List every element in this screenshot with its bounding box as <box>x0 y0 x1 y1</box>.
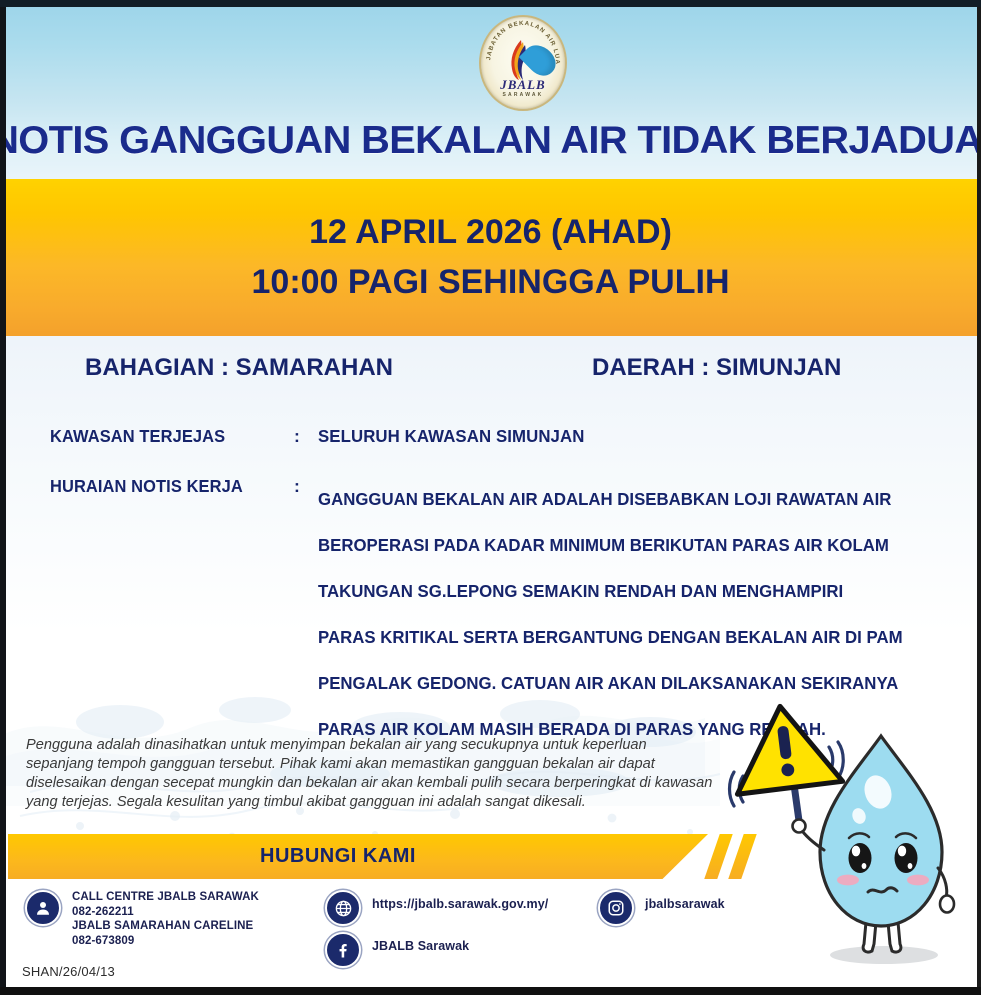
logo-name-text: JBALB <box>481 77 565 93</box>
jbalb-logo: JABATAN BEKALAN AIR LUAR BANDAR JBALB SA… <box>471 13 571 109</box>
outage-date-band: 12 APRIL 2026 (AHAD) 10:00 PAGI SEHINGGA… <box>0 179 981 336</box>
water-supply-disruption-notice-poster: JABATAN BEKALAN AIR LUAR BANDAR JBALB SA… <box>0 0 981 995</box>
mascot-right-hand <box>940 896 954 913</box>
outage-time: 10:00 PAGI SEHINGGA PULIH <box>252 258 730 307</box>
call-centre-name: CALL CENTRE JBALB SARAWAK <box>72 890 259 905</box>
outage-date: 12 APRIL 2026 (AHAD) <box>309 208 672 257</box>
website-text: https://jbalb.sarawak.gov.my/ <box>372 890 548 912</box>
instagram-handle: jbalbsarawak <box>645 890 725 912</box>
poster-header: JABATAN BEKALAN AIR LUAR BANDAR JBALB SA… <box>0 7 981 179</box>
call-centre-contact[interactable]: CALL CENTRE JBALB SARAWAK 082-262211 JBA… <box>25 890 259 948</box>
careline-phone: 082-673809 <box>72 934 259 949</box>
affected-area-colon: : <box>294 426 300 447</box>
poster-right-border <box>977 0 981 995</box>
affected-area-row: KAWASAN TERJEJAS : SELURUH KAWASAN SIMUN… <box>50 426 236 447</box>
careline-name: JBALB SAMARAHAN CARELINE <box>72 919 259 934</box>
logo-oval-crest: JABATAN BEKALAN AIR LUAR BANDAR JBALB SA… <box>479 15 567 111</box>
call-centre-text: CALL CENTRE JBALB SARAWAK 082-262211 JBA… <box>72 890 259 948</box>
work-description-colon: : <box>294 476 300 497</box>
instagram-icon <box>598 890 634 926</box>
poster-left-border <box>0 0 6 995</box>
website-contact[interactable]: https://jbalb.sarawak.gov.my/ <box>325 890 548 926</box>
contact-us-label: HUBUNGI KAMI <box>8 834 668 879</box>
disclaimer-text: Pengguna adalah dinasihatkan untuk menyi… <box>26 736 714 812</box>
facebook-page-name: JBALB Sarawak <box>372 932 469 954</box>
instagram-contact[interactable]: jbalbsarawak <box>598 890 725 926</box>
district-label: DAERAH : SIMUNJAN <box>592 354 841 382</box>
page-title: NOTIS GANGGUAN BEKALAN AIR TIDAK BERJADU… <box>0 119 981 163</box>
poster-top-border <box>0 0 981 7</box>
division-label: BAHAGIAN : SAMARAHAN <box>85 354 393 382</box>
work-description-line: BEROPERASI PADA KADAR MINIMUM BERIKUTAN … <box>318 522 952 568</box>
call-centre-phone: 082-262211 <box>72 905 259 920</box>
facebook-contact[interactable]: JBALB Sarawak <box>325 932 469 968</box>
work-description-line: PARAS KRITIKAL SERTA BERGANTUNG DENGAN B… <box>318 614 952 660</box>
mascot-blush <box>907 875 929 886</box>
work-description-row: HURAIAN NOTIS KERJA : <box>50 476 255 497</box>
water-drop-mascot <box>726 700 978 988</box>
mascot-body <box>820 736 942 926</box>
poster-bottom-border <box>0 987 981 995</box>
affected-area-value: SELURUH KAWASAN SIMUNJAN <box>318 426 584 447</box>
facebook-icon <box>325 932 361 968</box>
mascot-blush <box>837 875 859 886</box>
work-description-line: TAKUNGAN SG.LEPONG SEMAKIN RENDAH DAN ME… <box>318 568 952 614</box>
affected-area-label: KAWASAN TERJEJAS <box>50 426 225 447</box>
warning-triangle-icon <box>727 700 842 794</box>
person-icon <box>25 890 61 926</box>
logo-sub-text: SARAWAK <box>481 92 565 98</box>
mascot-shadow <box>830 946 938 964</box>
mascot-left-hand <box>793 820 806 833</box>
globe-icon <box>325 890 361 926</box>
work-description-line: GANGGUAN BEKALAN AIR ADALAH DISEBABKAN L… <box>318 476 952 522</box>
reference-number: SHAN/26/04/13 <box>22 964 115 979</box>
work-description-label: HURAIAN NOTIS KERJA <box>50 476 243 497</box>
